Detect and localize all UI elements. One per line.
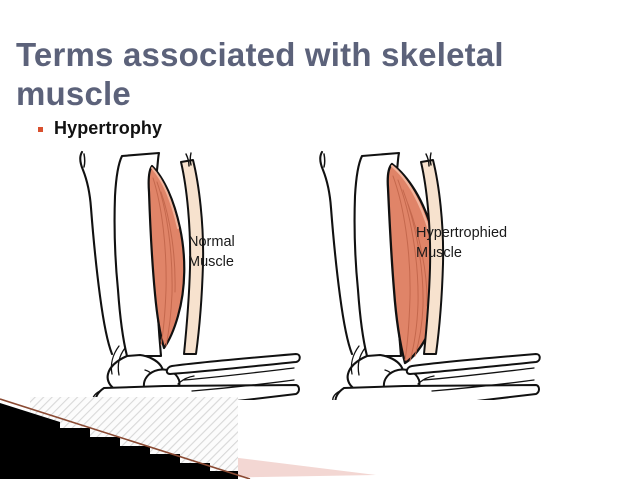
hypertrophied-muscle-illustration (300, 148, 546, 400)
bullet-list-item: Hypertrophy (38, 118, 162, 139)
bottom-left-diagonal-ornament (0, 389, 638, 479)
bullet-item-label: Hypertrophy (54, 118, 162, 139)
square-bullet-icon (38, 127, 43, 132)
normal-muscle-illustration (60, 148, 306, 400)
hypertrophied-muscle-figure (300, 148, 546, 400)
normal-muscle-label: Normal Muscle (188, 233, 235, 272)
page-title: Terms associated with skeletal muscle (16, 36, 576, 114)
hypertrophied-muscle-label: Hypertrophied Muscle (416, 224, 507, 263)
slide-canvas: Terms associated with skeletal muscle Hy… (0, 0, 638, 479)
ornament-graphic (0, 389, 638, 479)
normal-muscle-figure (60, 148, 306, 400)
